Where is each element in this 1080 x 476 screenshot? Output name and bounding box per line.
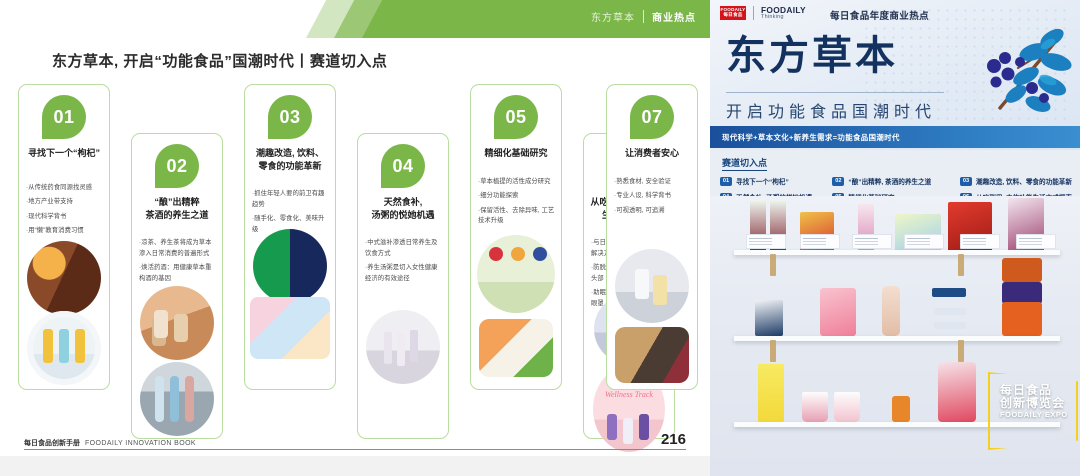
footer-brand: 每日食品创新手册 FOODAILY INNOVATION BOOK [24,438,196,448]
shelf-product [834,392,860,422]
card-photo-soup-products [366,310,440,384]
card-bullets: ·草本植提的活性成分研究 ·细分功能探索 ·保留活性、去除异味, 工艺技术升级 [478,177,556,231]
card-title: 精细化基础研究 [475,147,557,160]
shelf-bracket [958,340,964,362]
card-number-badge: 07 [630,95,674,139]
track-item-01[interactable]: 01 寻找下一个“枸杞” [720,176,826,186]
shelf-product [1002,282,1042,304]
track-text: “酿”出精粹, 茶酒的养生之道 [848,176,931,186]
card-03[interactable]: 03 潮趣改造, 饮料、 零食的功能革新 ·抓住年轻人要的前卫有趣趋势 ·随手化… [244,84,336,390]
watermark-text: 每日食品 创新博览会 FOODAILY EXPO [1000,384,1068,419]
track-number: 02 [832,177,844,186]
bullet-item: ·地方产业带支持 [26,197,104,208]
footer-row: 每日食品创新手册 FOODAILY INNOVATION BOOK 216 [24,431,686,448]
card-number-badge: 05 [494,95,538,139]
footer-brand-en: FOODAILY INNOVATION BOOK [85,440,196,447]
shelf-product [820,288,856,336]
card-photo-herbal-jars [140,286,214,360]
page-number: 216 [661,431,686,448]
card-photo-supplement [615,249,689,323]
shelf-board-1 [734,250,1060,255]
kv-rule [726,92,944,93]
shelf-bracket [770,254,776,276]
shelf-product [1002,258,1042,282]
ribbon-category-label: 商业热点 [652,9,696,24]
watermark-line-3: FOODAILY EXPO [1000,411,1068,419]
card-bullets: ·熟悉食材, 安全验证 ·专业人设, 科学背书 ·可视透明, 可追溯 [614,177,692,220]
logo-divider [753,6,754,20]
bullet-item: ·凉茶、养生茶将成为草本渗入日常消费的普遍形式 [139,238,217,260]
bullet-item: ·用“懒”教育消费习惯 [26,226,104,237]
bullet-item: ·抓住年轻人要的前卫有趣趋势 [252,189,330,211]
left-page: 东方草本 商业热点 东方草本, 开启“功能食品”国潮时代丨赛道切入点 01 寻找… [0,0,710,476]
foodaily-red-logo: FOODAILY 每日食品 [720,6,746,20]
kv-tagline-text: 现代科学+草本文化+新养生需求=功能食品国潮时代 [722,132,900,143]
shelf-product [892,396,910,422]
card-row: 01 寻找下一个“枸杞” ·从传统药食同源找灵感 ·地方产业带支持 ·现代科学背… [18,84,698,414]
card-photo-snack-packs [250,297,330,359]
bullet-item: ·养生汤粥是切入女性健康经济的有效途径 [365,263,443,285]
card-photo-bottles [27,311,101,385]
bullet-item: ·中式滋补渗透日常养生及饮食方式 [365,238,443,260]
shelf-bracket [958,254,964,276]
kv-headline: 东方草本 [726,36,898,76]
shelf-product [934,322,966,329]
price-tag [960,234,1000,249]
shelf-product [755,300,783,336]
shelf-board-2 [734,336,1060,341]
price-tag [852,234,892,249]
kv-top-text: 每日食品年度商业热点 [830,8,929,22]
card-title: 寻找下一个“枸杞” [23,147,105,160]
card-bullets: ·凉茶、养生茶将成为草本渗入日常消费的普遍形式 ·焕活药酒：用健康草本重构酒的基… [139,238,217,288]
price-tag [746,234,786,249]
card-05[interactable]: 05 精细化基础研究 ·草本植提的活性成分研究 ·细分功能探索 ·保留活性、去除… [470,84,562,390]
track-text: 潮趣改造, 饮料、零食的功能革新 [976,176,1072,186]
bullet-item: ·草本植提的活性成分研究 [478,177,556,188]
logo-tag: Thinking [761,15,806,20]
right-photo-panel: FOODAILY 每日食品 FOODAILY Thinking 每日食品年度商业… [710,0,1080,476]
bullet-item: ·熟悉食材, 安全验证 [614,177,692,188]
card-04[interactable]: 04 天然食补, 汤粥的悦她机遇 ·中式滋补渗透日常养生及饮食方式 ·养生汤粥是… [357,133,449,439]
card-title: 让消费者安心 [611,147,693,160]
card-bullets: ·从传统药食同源找灵感 ·地方产业带支持 ·现代科学背书 ·用“懒”教育消费习惯 [26,183,104,240]
card-title: “酿”出精粹 茶酒的养生之道 [136,196,218,222]
card-01[interactable]: 01 寻找下一个“枸杞” ·从传统药食同源找灵感 ·地方产业带支持 ·现代科学背… [18,84,110,390]
page-footer: 每日食品创新手册 FOODAILY INNOVATION BOOK 216 [24,449,686,450]
kv-subheadline: 开启功能食品国潮时代 [726,98,936,122]
card-photo-ingredients [615,327,689,383]
card-photo-shelf-split [253,229,327,303]
card-07[interactable]: 07 让消费者安心 ·熟悉食材, 安全验证 ·专业人设, 科学背书 ·可视透明,… [606,84,698,390]
card-bullets: ·中式滋补渗透日常养生及饮食方式 ·养生汤粥是切入女性健康经济的有效途径 [365,238,443,288]
track-number: 03 [960,177,972,186]
header-ribbon: 东方草本 商业热点 [290,0,710,38]
ribbon-divider [643,10,644,23]
track-list-row: 01 寻找下一个“枸杞” 02 “酿”出精粹, 茶酒的养生之道 03 潮趣改造,… [720,176,1072,186]
bullet-item: ·保留活性、去除异味, 工艺技术升级 [478,206,556,228]
expo-watermark: 每日食品 创新博览会 FOODAILY EXPO [988,372,1074,446]
bullet-item: ·可视透明, 可追溯 [614,206,692,217]
card-photo-honey-jar [27,241,101,315]
page-title: 东方草本, 开启“功能食品”国潮时代丨赛道切入点 [52,50,387,71]
price-tag [800,234,840,249]
card-title: 潮趣改造, 饮料、 零食的功能革新 [249,147,331,173]
card-photo-extract-pack [477,235,555,313]
foodaily-wordmark: FOODAILY Thinking [761,6,806,20]
shelf-product [1002,302,1042,336]
card-number-badge: 01 [42,95,86,139]
ribbon-section-label: 东方草本 [591,9,635,24]
watermark-line-2: 创新博览会 [1000,397,1068,410]
price-tag [1016,234,1056,249]
card-02[interactable]: 02 “酿”出精粹 茶酒的养生之道 ·凉茶、养生茶将成为草本渗入日常消费的普遍形… [131,133,223,439]
bullet-item: ·专业人设, 科学背书 [614,191,692,202]
herb-branch-illustration [948,22,1076,128]
shelf-product [802,392,828,422]
brand-lockup: FOODAILY 每日食品 FOODAILY Thinking [720,6,806,20]
exhibition-shelf-photo: 每日食品 创新博览会 FOODAILY EXPO [710,196,1080,476]
shelf-product [882,286,900,336]
track-list-title: 赛道切入点 [722,156,767,171]
shelf-product [938,362,976,422]
bullet-item: ·焕活药酒：用健康草本重构酒的基因 [139,263,217,285]
track-item-02[interactable]: 02 “酿”出精粹, 茶酒的养生之道 [832,176,954,186]
track-text: 寻找下一个“枸杞” [736,176,789,186]
card-number-badge: 04 [381,144,425,188]
card-photo-glass-bottles [140,362,214,436]
shelf-bracket [770,340,776,362]
kv-tagline-band: 现代科学+草本文化+新养生需求=功能食品国潮时代 [710,126,1080,148]
price-tag [904,234,944,249]
footer-brand-cn: 每日食品创新手册 [24,438,80,448]
track-number: 01 [720,177,732,186]
shelf-product [934,308,966,315]
card-title: 天然食补, 汤粥的悦她机遇 [362,196,444,222]
card-photo-boxes [479,319,553,377]
slide-canvas: 东方草本 商业热点 东方草本, 开启“功能食品”国潮时代丨赛道切入点 01 寻找… [0,0,1080,476]
bullet-item: ·从传统药食同源找灵感 [26,183,104,194]
bullet-item: ·现代科学背书 [26,212,104,223]
shelf-product [758,364,784,422]
track-item-03[interactable]: 03 潮趣改造, 饮料、零食的功能革新 [960,176,1072,186]
shelf-product [932,288,966,297]
card-number-badge: 02 [155,144,199,188]
ribbon-text: 东方草本 商业热点 [591,9,696,24]
bullet-item: ·细分功能探索 [478,191,556,202]
card-number-badge: 03 [268,95,312,139]
page-bottom-strip [0,456,710,476]
